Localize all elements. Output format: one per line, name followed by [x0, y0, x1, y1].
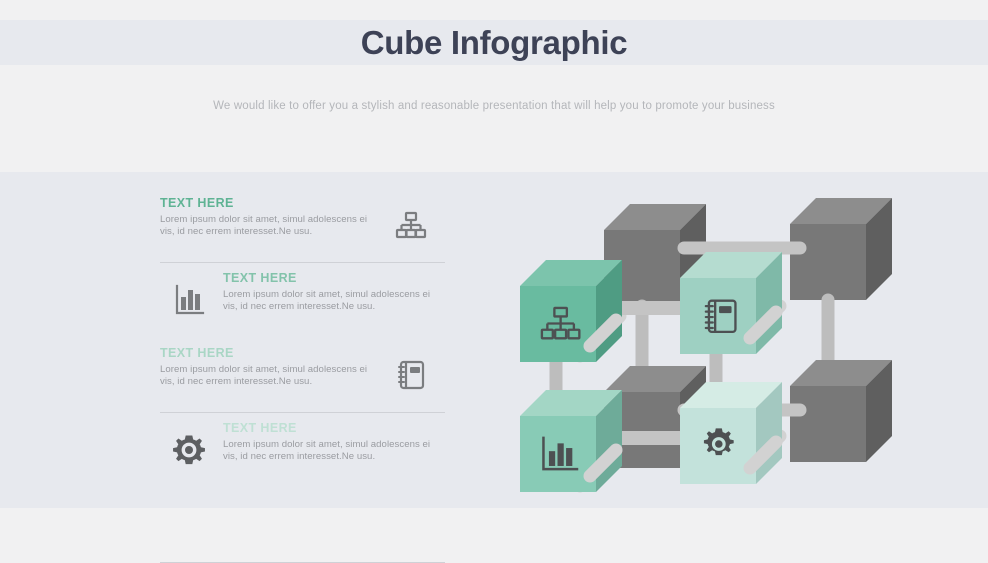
list-item[interactable]: TEXT HERE Lorem ipsum dolor sit amet, si…	[160, 196, 445, 258]
notebook-icon	[388, 352, 434, 398]
list-item[interactable]: TEXT HERE Lorem ipsum dolor sit amet, si…	[160, 346, 445, 408]
list-item-heading: TEXT HERE	[223, 271, 445, 285]
list-item-text: TEXT HERE Lorem ipsum dolor sit amet, si…	[160, 346, 382, 389]
list-divider	[160, 412, 445, 413]
list-item-description: Lorem ipsum dolor sit amet, simul adoles…	[160, 214, 382, 239]
cube-network-diagram	[512, 186, 912, 498]
cube-front-top-right[interactable]	[680, 252, 782, 354]
gear-icon	[704, 428, 734, 455]
gear-icon	[166, 427, 212, 473]
list-item-heading: TEXT HERE	[160, 196, 382, 210]
list-item-description: Lorem ipsum dolor sit amet, simul adoles…	[223, 289, 445, 314]
list-item-heading: TEXT HERE	[223, 421, 445, 435]
page-subtitle: We would like to offer you a stylish and…	[0, 100, 988, 112]
list-item-description: Lorem ipsum dolor sit amet, simul adoles…	[223, 439, 445, 464]
list-item[interactable]: TEXT HERE Lorem ipsum dolor sit amet, si…	[160, 421, 445, 483]
cube-front-bottom-left[interactable]	[520, 390, 622, 492]
list-item-text: TEXT HERE Lorem ipsum dolor sit amet, si…	[160, 196, 382, 239]
page-title: Cube Infographic	[0, 18, 988, 68]
feature-list: TEXT HERE Lorem ipsum dolor sit amet, si…	[160, 196, 445, 496]
cube-front-bottom-right[interactable]	[680, 382, 782, 484]
hierarchy-icon	[388, 202, 434, 248]
list-item-text: TEXT HERE Lorem ipsum dolor sit amet, si…	[223, 271, 445, 314]
bar-chart-icon	[166, 277, 212, 323]
list-item-text: TEXT HERE Lorem ipsum dolor sit amet, si…	[223, 421, 445, 464]
list-item-heading: TEXT HERE	[160, 346, 382, 360]
cube-front-top-left[interactable]	[520, 260, 622, 362]
list-divider	[160, 262, 445, 263]
list-item-description: Lorem ipsum dolor sit amet, simul adoles…	[160, 364, 382, 389]
list-item[interactable]: TEXT HERE Lorem ipsum dolor sit amet, si…	[160, 271, 445, 333]
